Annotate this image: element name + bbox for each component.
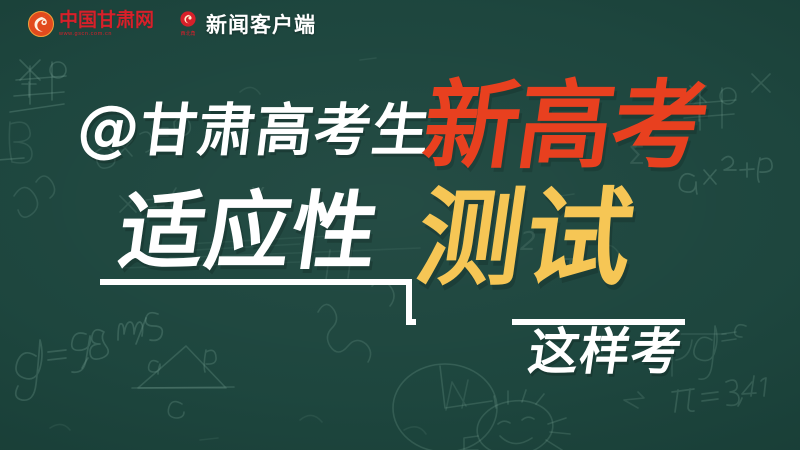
site-logo-wordmark: 中国甘肃网 www.gscn.com.cn — [59, 11, 154, 38]
app-logo[interactable]: 西北角 新闻客户端 — [176, 9, 316, 39]
header-logo-bar: 中国甘肃网 www.gscn.com.cn 西北角 新闻客户端 — [0, 0, 800, 48]
headline-this-way: 这样考 — [525, 327, 685, 377]
decorative-rule-step-foot — [406, 319, 416, 325]
poster-canvas: 2 π y ∑ 中国甘肃网 www.gscn.com.cn — [0, 0, 800, 450]
site-name: 中国甘肃网 — [59, 11, 154, 30]
at-symbol: @ — [78, 98, 138, 160]
headline-audience: 甘肃高考生 — [137, 103, 434, 160]
site-logo[interactable]: 中国甘肃网 www.gscn.com.cn — [28, 11, 154, 38]
gansu-swan-logo-icon — [28, 11, 54, 37]
headline-test: 测试 — [411, 186, 642, 292]
app-name: 新闻客户端 — [206, 9, 316, 39]
headline-line-1: @ 甘肃高考生 — [78, 98, 430, 160]
headline-adaptive: 适应性 — [114, 190, 384, 275]
seal-text: 西北角 — [181, 30, 196, 37]
headline-new-gaokao: 新高考 — [417, 78, 712, 174]
xibeijiao-seal-icon: 西北角 — [176, 11, 200, 37]
site-url: www.gscn.com.cn — [59, 32, 154, 38]
